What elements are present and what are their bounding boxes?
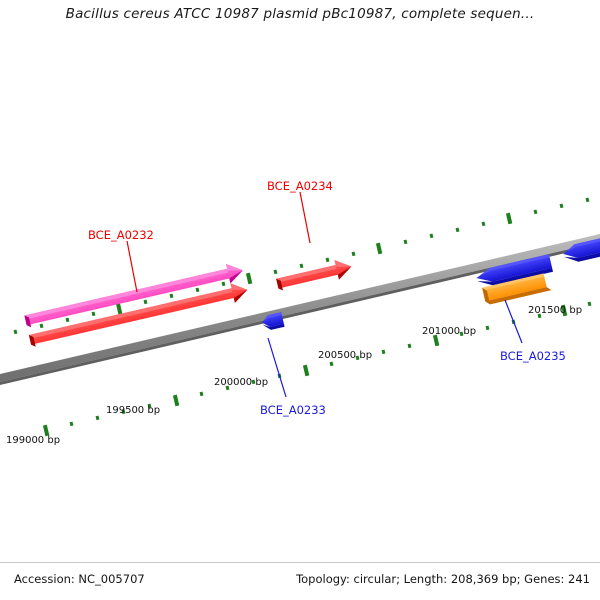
axis-tick-label: 199000 bp (6, 435, 60, 446)
gene-feature-bce-a0234[interactable] (275, 257, 354, 294)
sequence-graphic[interactable] (0, 0, 600, 600)
axis-tick-label: 201500 bp (528, 305, 582, 316)
axis-tick-label: 201000 bp (422, 326, 476, 337)
leader-line-bce-a0235 (505, 300, 522, 343)
gene-label-bce-a0234[interactable]: BCE_A0234 (267, 179, 333, 193)
leader-line-bce-a0232 (127, 241, 137, 292)
axis-tick-label: 199500 bp (106, 405, 160, 416)
gene-label-bce-a0235[interactable]: BCE_A0235 (500, 349, 566, 363)
gene-label-bce-a0232[interactable]: BCE_A0232 (88, 228, 154, 242)
sequence-stats-label: Topology: circular; Length: 208,369 bp; … (296, 572, 590, 586)
axis-tick-label: 200000 bp (214, 377, 268, 388)
label-leader-lines (127, 192, 522, 397)
leader-line-bce-a0233 (268, 338, 286, 397)
accession-label: Accession: NC_005707 (14, 572, 145, 586)
footer-divider (0, 562, 600, 563)
gene-label-bce-a0233[interactable]: BCE_A0233 (260, 403, 326, 417)
leader-line-bce-a0234 (300, 192, 310, 243)
genome-viewer: Bacillus cereus ATCC 10987 plasmid pBc10… (0, 0, 600, 600)
axis-tick-label: 200500 bp (318, 350, 372, 361)
